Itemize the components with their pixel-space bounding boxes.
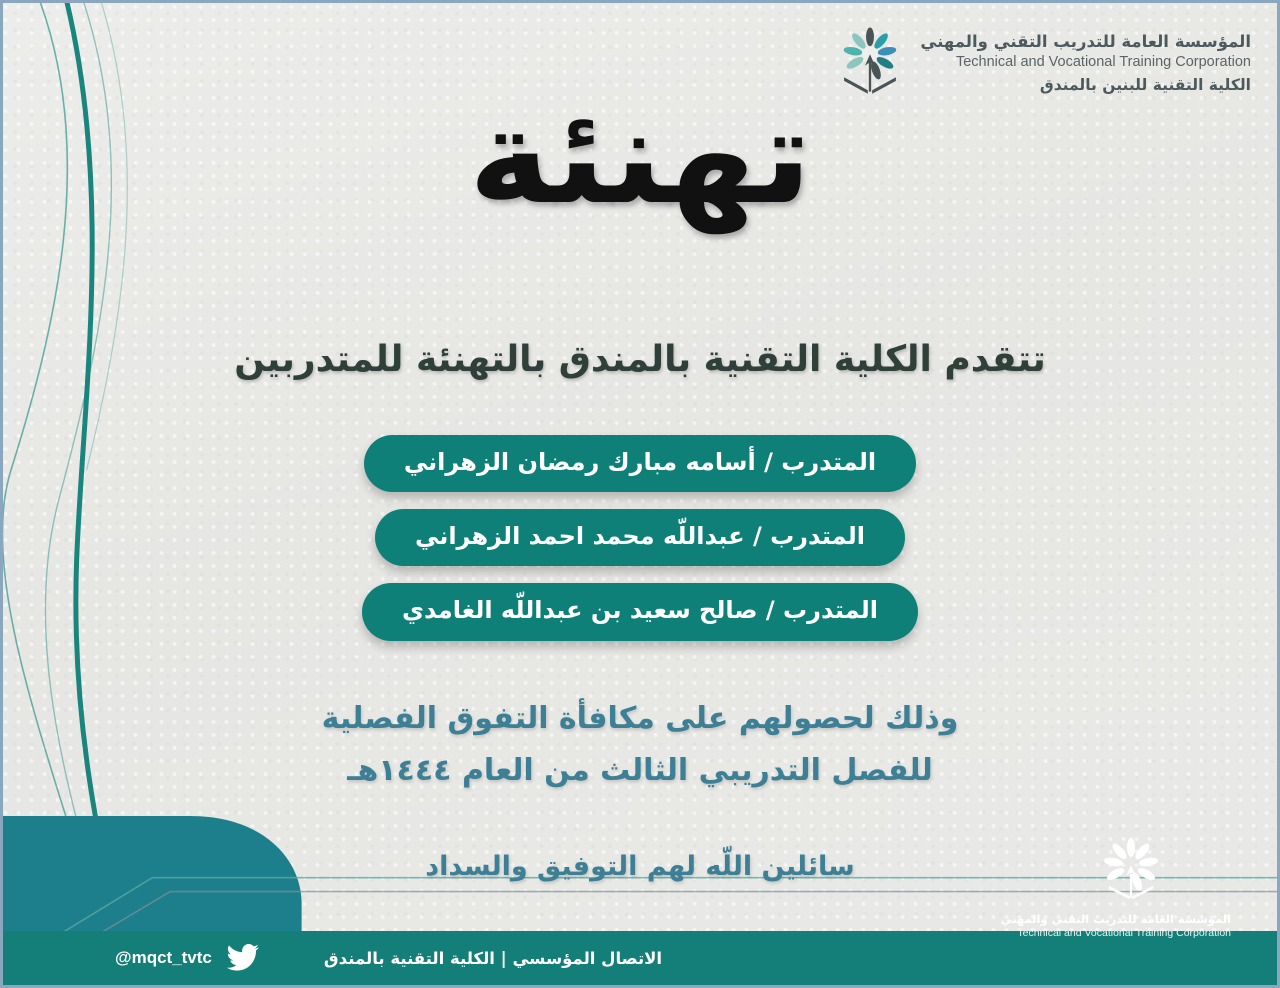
body-paragraph: وذلك لحصولهم على مكافأة التفوق الفصلية ل… xyxy=(63,693,1217,796)
trainee-list: المتدرب / أسامه مبارك رمضان الزهراني الم… xyxy=(3,435,1277,641)
body-line-2: للفصل التدريبي الثالث من العام ١٤٤٤هـ xyxy=(63,745,1217,797)
header-org-ar: المؤسسة العامة للتدريب التقني والمهني xyxy=(920,31,1251,53)
calligraphy-text: تهنئة xyxy=(468,91,812,223)
bottom-logo-org-en: Technical and Vocational Training Corpor… xyxy=(1031,927,1231,941)
header-text-group: المؤسسة العامة للتدريب التقني والمهني Te… xyxy=(920,25,1251,98)
body-line-1: وذلك لحصولهم على مكافأة التفوق الفصلية xyxy=(63,693,1217,745)
trainee-pill: المتدرب / صالح سعيد بن عبداللّه الغامدي xyxy=(362,583,918,640)
twitter-handle-text[interactable]: @mqct_tvtc xyxy=(115,948,212,968)
header-org-en: Technical and Vocational Training Corpor… xyxy=(920,53,1251,73)
footer-social-group[interactable]: @mqct_tvtc xyxy=(115,931,259,985)
tvtc-flower-logo-white-icon xyxy=(1094,834,1168,908)
page-title: تتقدم الكلية التقنية بالمندق بالتهنئة لل… xyxy=(63,336,1217,385)
trainee-pill: المتدرب / عبداللّه محمد احمد الزهراني xyxy=(375,509,905,566)
bottom-left-logo-block: المؤسسة العامة للتدريب التقني والمهني Te… xyxy=(1031,834,1231,941)
twitter-bird-icon[interactable] xyxy=(225,944,259,972)
trainee-pill: المتدرب / أسامه مبارك رمضان الزهراني xyxy=(364,435,916,492)
decor-curve-thin-3 xyxy=(87,3,128,470)
calligraphy-title: تهنئة xyxy=(3,91,1277,223)
bottom-logo-org-ar: المؤسسة العامة للتدريب التقني والمهني xyxy=(1031,912,1231,927)
congratulation-poster: الاتصال المؤسسي | الكلية التقنية بالمندق… xyxy=(0,0,1280,988)
